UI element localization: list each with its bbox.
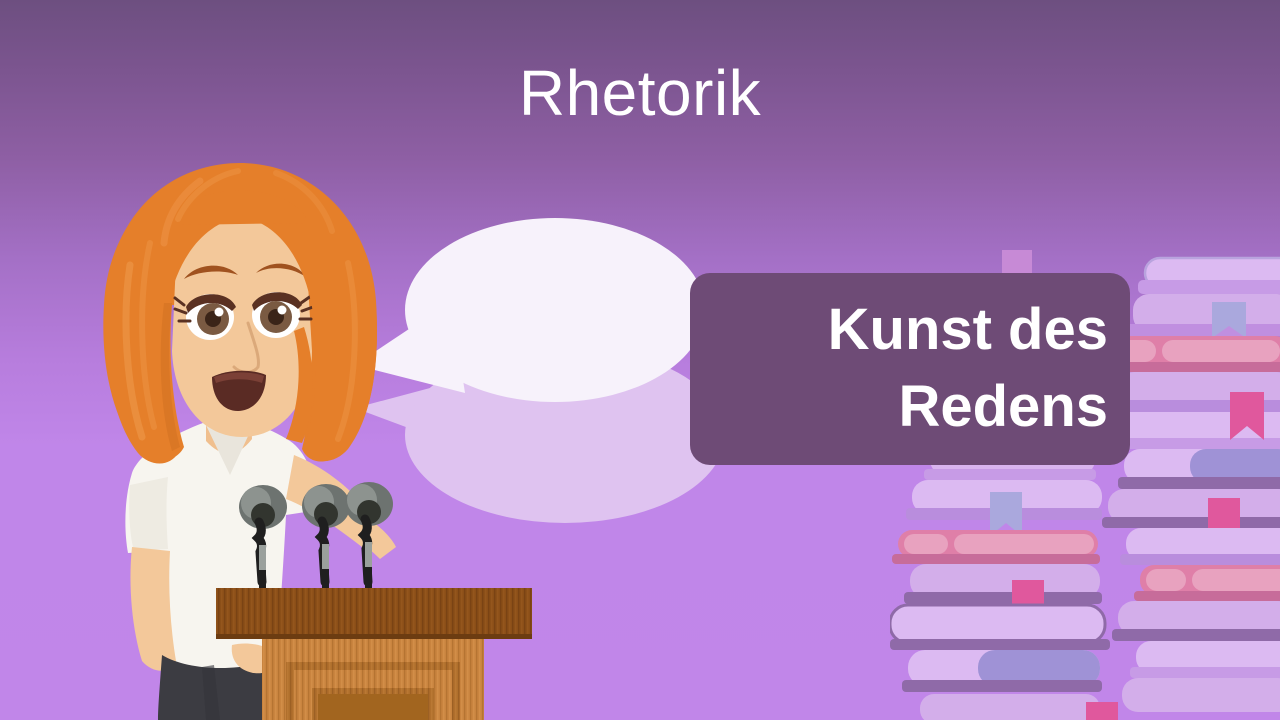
book xyxy=(1130,641,1280,678)
character-left-arm xyxy=(130,547,176,671)
callout-line-1: Kunst des xyxy=(828,292,1108,369)
book xyxy=(920,694,1118,720)
bookmark-icon xyxy=(1086,702,1118,720)
microphone xyxy=(239,485,287,592)
book xyxy=(892,530,1100,564)
slide-canvas: Kunst des Redens Rhetorik xyxy=(0,0,1280,720)
book xyxy=(1138,258,1280,294)
callout-line-2: Redens xyxy=(898,369,1108,446)
callout-box: Kunst des Redens xyxy=(690,273,1130,465)
book xyxy=(1112,601,1280,641)
book xyxy=(1122,678,1280,712)
book xyxy=(1120,528,1280,565)
lectern-top xyxy=(216,588,532,638)
book xyxy=(1118,449,1280,489)
bookmark-icon xyxy=(990,492,1022,536)
page-title: Rhetorik xyxy=(0,58,1280,128)
microphone xyxy=(302,484,350,592)
book xyxy=(1134,565,1280,601)
speech-bubble-front xyxy=(355,205,715,420)
book xyxy=(902,650,1102,692)
book xyxy=(890,605,1110,650)
microphone xyxy=(345,482,393,592)
lectern-with-microphones xyxy=(200,470,580,720)
book xyxy=(1126,294,1280,338)
book xyxy=(906,480,1102,536)
